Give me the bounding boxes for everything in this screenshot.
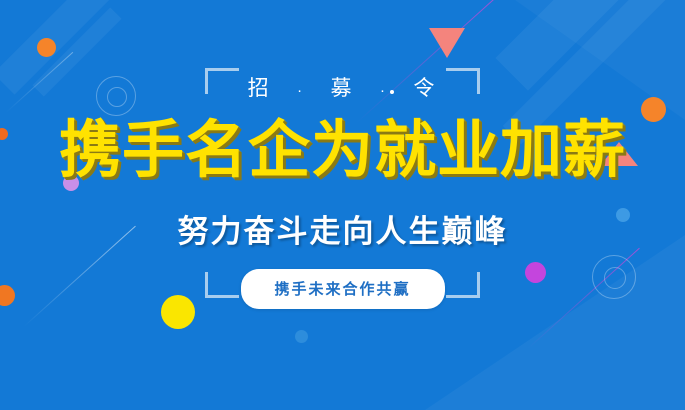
eyebrow-separator-2: . xyxy=(380,79,387,96)
eyebrow-char-1: 招 xyxy=(248,72,272,102)
subheadline: 努力奋斗走向人生巅峰 xyxy=(0,206,685,251)
orange-dot-top-left xyxy=(37,38,56,57)
eyebrow-separator-1: . xyxy=(297,79,304,96)
magenta-dot-right xyxy=(525,262,546,283)
blue-dot-bottom xyxy=(295,330,308,343)
eyebrow-char-2: 募 xyxy=(331,72,355,102)
corner-wedge-top-right xyxy=(515,0,685,120)
cta-button[interactable]: 携手未来合作共赢 xyxy=(240,269,444,309)
ring-lower-right xyxy=(592,255,636,299)
pink-triangle-top xyxy=(429,28,465,58)
eyebrow-char-3: 令 xyxy=(413,72,437,102)
headline: 携手名企为就业加薪 xyxy=(0,118,685,183)
orange-dot-left-low xyxy=(0,285,15,306)
recruitment-banner: 招 . 募 . 令 携手名企为就业加薪 努力奋斗走向人生巅峰 携手未来合作共赢 xyxy=(0,0,685,410)
purple-streak-lower-right xyxy=(528,248,640,349)
yellow-dot-lower-left xyxy=(161,295,195,329)
corner-wedge-bottom-right xyxy=(425,235,685,410)
purple-streak-upper-right xyxy=(357,0,517,123)
bracket-cta-bottom-left xyxy=(205,272,239,298)
eyebrow-title: 招 . 募 . 令 xyxy=(0,72,685,102)
bracket-cta-bottom-right xyxy=(446,272,480,298)
